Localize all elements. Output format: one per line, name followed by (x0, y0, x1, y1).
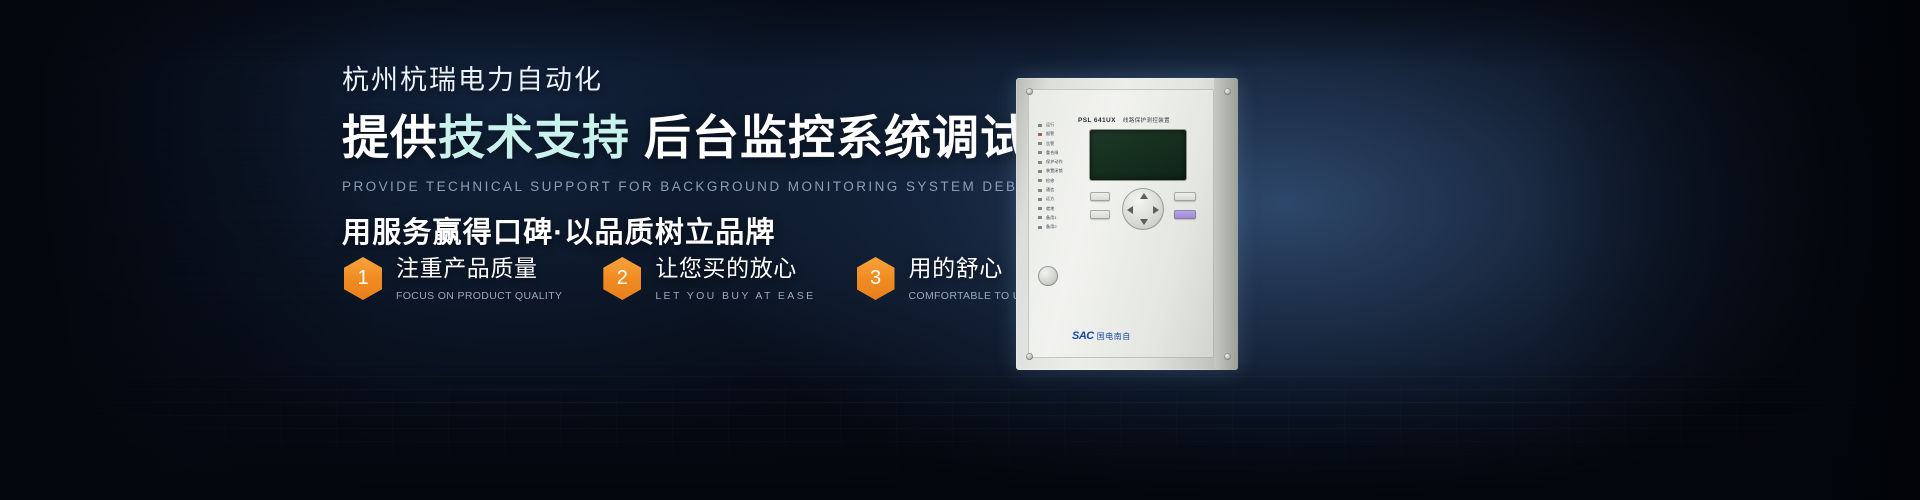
screw-icon (1224, 353, 1231, 360)
led-row: 保护动作 (1038, 159, 1082, 165)
led-row: 就地 (1038, 206, 1082, 212)
feature-title-en: FOCUS ON PRODUCT QUALITY (396, 290, 562, 302)
led-row: 检修 (1038, 178, 1082, 184)
led-indicator-icon (1038, 133, 1042, 136)
company-name: 杭州杭瑞电力自动化 (342, 64, 982, 96)
led-indicator-icon (1038, 151, 1042, 154)
led-indicator-icon (1038, 170, 1042, 173)
led-label: 告警 (1046, 141, 1054, 147)
led-row: 重合闸 (1038, 150, 1082, 156)
headline: 提供技术支持 后台监控系统调试 (342, 110, 982, 165)
device-dpad (1122, 188, 1164, 230)
led-label: 重合闸 (1046, 150, 1059, 156)
led-row: 运行 (1038, 122, 1082, 128)
feature-text: 让您买的放心 LET YOU BUY AT EASE (655, 255, 815, 302)
feature-number-badge: 1 (344, 257, 382, 300)
device-model-label: PSL 641UX线路保护测控装置 (1078, 116, 1170, 124)
led-label: 运行 (1046, 122, 1054, 128)
led-label: 通信 (1046, 187, 1054, 193)
device-function-key (1090, 210, 1110, 219)
led-label: 备用1 (1046, 215, 1057, 221)
feature-number-badge: 3 (857, 257, 895, 300)
device-lcd-screen (1090, 130, 1186, 180)
device-brand-logo: SAC 国电南自 (1072, 330, 1131, 342)
device-led-panel: 运行 报警 告警 重合闸 保护动作 装置闭锁 检修 通信 远方 就地 备用1 备… (1038, 122, 1082, 234)
feature-text: 注重产品质量 FOCUS ON PRODUCT QUALITY (396, 255, 562, 302)
screw-icon (1224, 88, 1231, 95)
led-indicator-icon (1038, 142, 1042, 145)
led-indicator-icon (1038, 207, 1042, 210)
feature-item: 1 注重产品质量 FOCUS ON PRODUCT QUALITY (344, 255, 562, 302)
led-row: 装置闭锁 (1038, 168, 1082, 174)
feature-list: 1 注重产品质量 FOCUS ON PRODUCT QUALITY 2 让您买的… (344, 255, 1076, 302)
feature-title-en: LET YOU BUY AT EASE (655, 290, 815, 302)
arrow-left-icon (1127, 206, 1133, 214)
brand-mark: SAC (1072, 330, 1094, 342)
led-row: 备用2 (1038, 224, 1082, 230)
feature-item: 2 让您买的放心 LET YOU BUY AT EASE (603, 255, 815, 302)
promo-banner: 杭州杭瑞电力自动化 提供技术支持 后台监控系统调试 PROVIDE TECHNI… (0, 0, 1920, 500)
feature-title-zh: 注重产品质量 (396, 255, 562, 281)
led-indicator-icon (1038, 216, 1042, 219)
screw-icon (1026, 88, 1033, 95)
feature-item: 3 用的舒心 COMFORTABLE TO USE (857, 255, 1036, 302)
led-row: 通信 (1038, 187, 1082, 193)
arrow-right-icon (1153, 206, 1159, 214)
led-label: 装置闭锁 (1046, 168, 1063, 174)
led-label: 远方 (1046, 196, 1054, 202)
arrow-up-icon (1140, 193, 1148, 199)
headline-segment-3: 后台监控系统调试 (630, 111, 1028, 164)
device-model-code: PSL 641UX (1078, 117, 1116, 124)
led-indicator-icon (1038, 198, 1042, 201)
led-label: 保护动作 (1046, 159, 1063, 165)
device-model-name-cn: 线路保护测控装置 (1123, 118, 1170, 124)
led-label: 检修 (1046, 178, 1054, 184)
led-indicator-icon (1038, 124, 1042, 127)
device-side-panel (1214, 78, 1238, 370)
led-row: 报警 (1038, 131, 1082, 137)
screw-icon (1026, 353, 1033, 360)
headline-subtitle-english: PROVIDE TECHNICAL SUPPORT FOR BACKGROUND… (342, 179, 982, 194)
led-indicator-icon (1038, 226, 1042, 229)
banner-copy: 杭州杭瑞电力自动化 提供技术支持 后台监控系统调试 PROVIDE TECHNI… (342, 64, 982, 251)
device-body: PSL 641UX线路保护测控装置 运行 报警 告警 重合闸 保护动作 装置闭锁… (1016, 78, 1238, 370)
led-row: 备用1 (1038, 215, 1082, 221)
headline-segment-1: 提供 (342, 111, 438, 164)
tagline: 用服务赢得口碑·以品质树立品牌 (342, 209, 982, 251)
led-row: 告警 (1038, 141, 1082, 147)
device-function-key (1174, 210, 1196, 219)
led-row: 远方 (1038, 196, 1082, 202)
brand-name-cn: 国电南自 (1097, 331, 1131, 342)
led-indicator-icon (1038, 189, 1042, 192)
device-function-key (1090, 192, 1110, 201)
headline-segment-2: 技术支持 (438, 111, 630, 164)
product-device-image: PSL 641UX线路保护测控装置 运行 报警 告警 重合闸 保护动作 装置闭锁… (1016, 78, 1238, 370)
led-indicator-icon (1038, 161, 1042, 164)
device-rotary-dial (1038, 266, 1058, 286)
led-label: 报警 (1046, 131, 1054, 137)
device-keypad (1090, 190, 1200, 250)
led-indicator-icon (1038, 179, 1042, 182)
led-label: 备用2 (1046, 224, 1057, 230)
led-label: 就地 (1046, 206, 1054, 212)
device-function-key (1174, 192, 1196, 201)
feature-number-badge: 2 (603, 257, 641, 300)
feature-title-zh: 让您买的放心 (655, 255, 815, 281)
arrow-down-icon (1140, 219, 1148, 225)
